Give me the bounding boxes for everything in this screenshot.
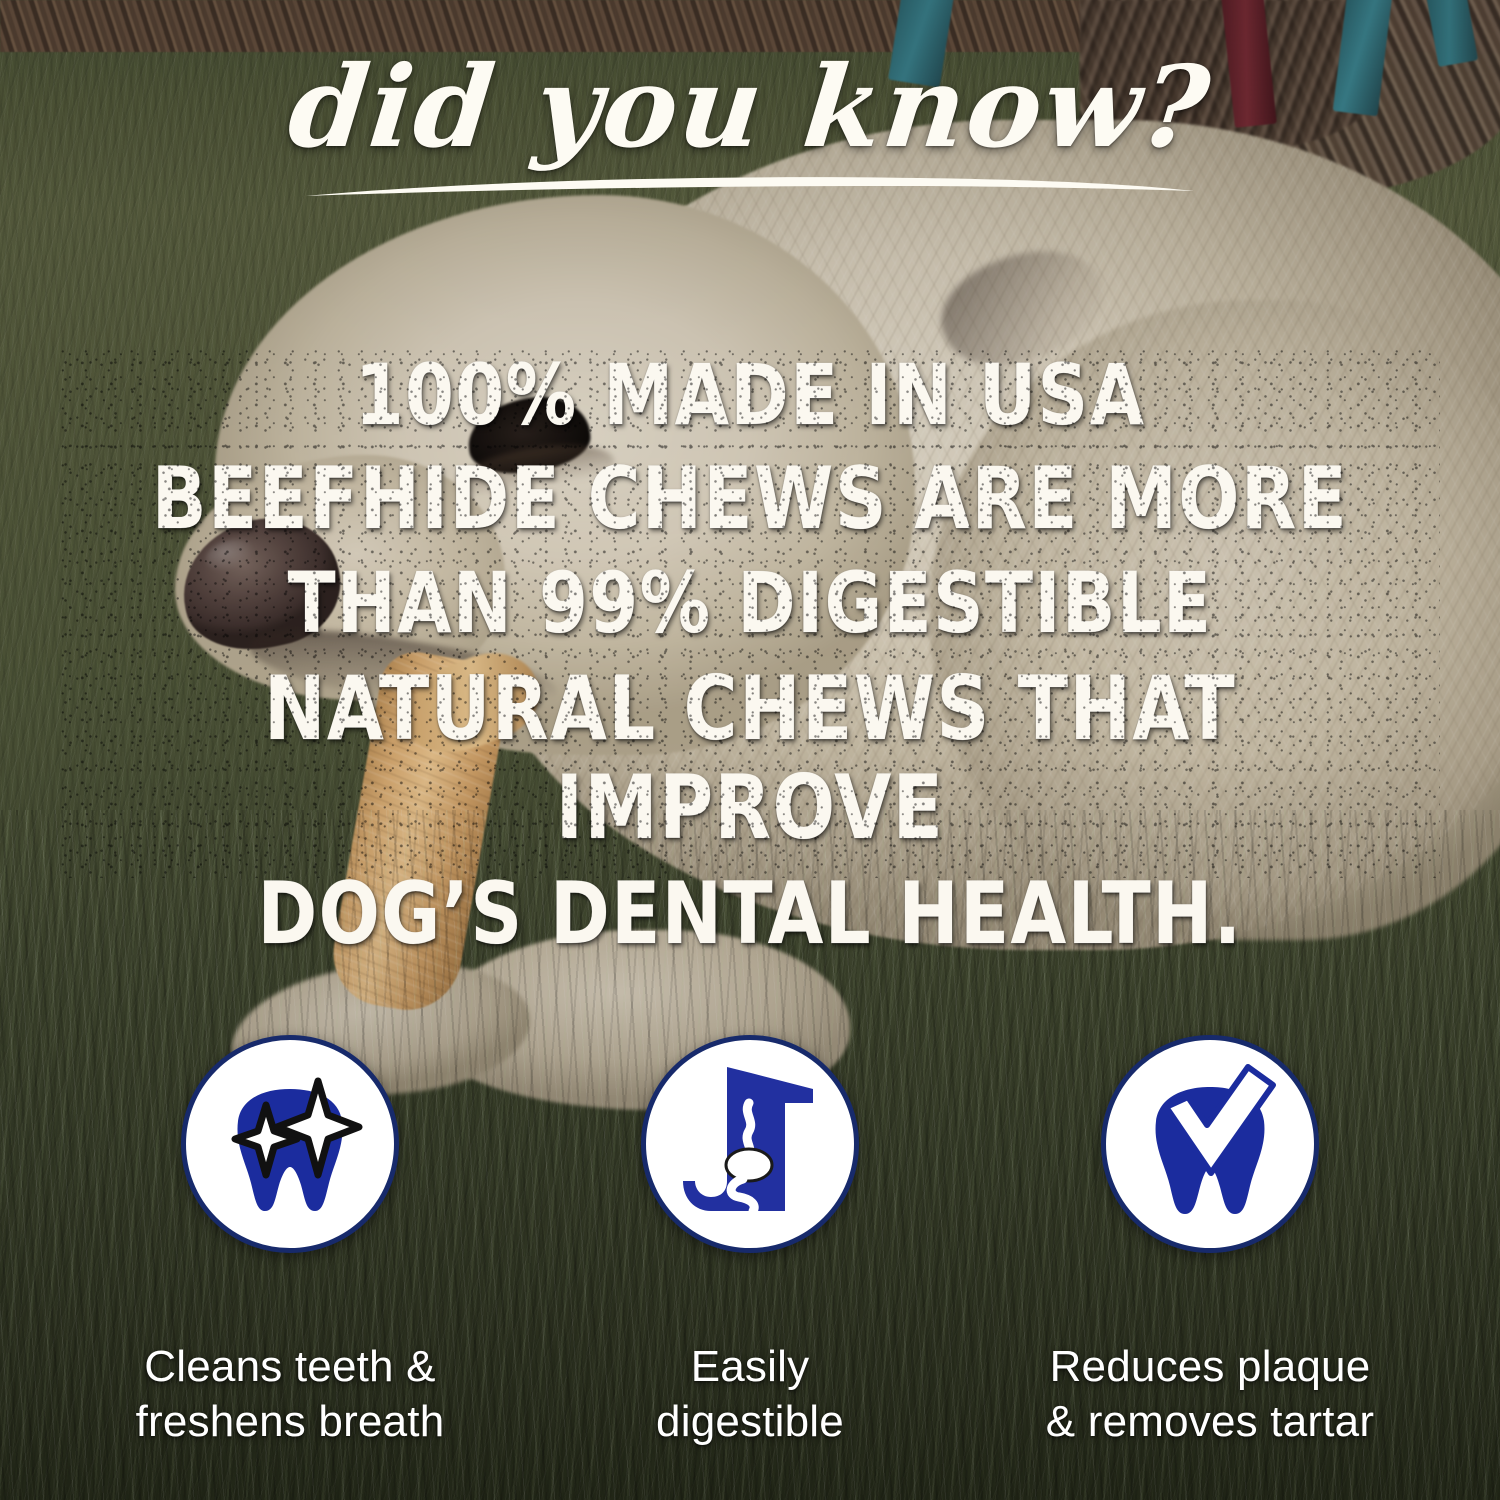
advertisement-image: did you know? 100% MADE IN USA BEEFHIDE … — [0, 0, 1500, 1500]
headline-text: did you know? — [284, 52, 1216, 164]
benefit-badge — [1101, 1035, 1319, 1253]
main-message-block: 100% MADE IN USA BEEFHIDE CHEWS ARE MORE… — [60, 348, 1440, 971]
benefits-row: Cleans teeth & freshens breath Easily di… — [0, 1035, 1500, 1449]
benefit-label: Easily digestible — [656, 1339, 844, 1449]
benefit-item: Reduces plaque & removes tartar — [980, 1035, 1440, 1449]
benefit-item: Easily digestible — [520, 1035, 980, 1449]
sparkling-tooth-icon — [205, 1059, 375, 1229]
message-line-5: DOG’S DENTAL HEALTH. — [108, 866, 1391, 963]
swoosh-underline-icon — [300, 174, 1200, 200]
message-line-4: NATURAL CHEWS THAT IMPROVE — [108, 659, 1391, 858]
message-line-3: THAN 99% DIGESTIBLE — [108, 556, 1391, 651]
benefit-item: Cleans teeth & freshens breath — [60, 1035, 520, 1449]
message-line-2: BEEFHIDE CHEWS ARE MORE — [108, 451, 1391, 548]
benefit-label: Reduces plaque & removes tartar — [1046, 1339, 1374, 1449]
dog-digestion-icon — [665, 1059, 835, 1229]
headline-block: did you know? — [0, 52, 1500, 200]
benefit-badge — [641, 1035, 859, 1253]
benefit-badge — [181, 1035, 399, 1253]
tooth-checkmark-icon — [1125, 1059, 1295, 1229]
benefit-label: Cleans teeth & freshens breath — [136, 1339, 445, 1449]
message-line-1: 100% MADE IN USA — [108, 348, 1391, 443]
